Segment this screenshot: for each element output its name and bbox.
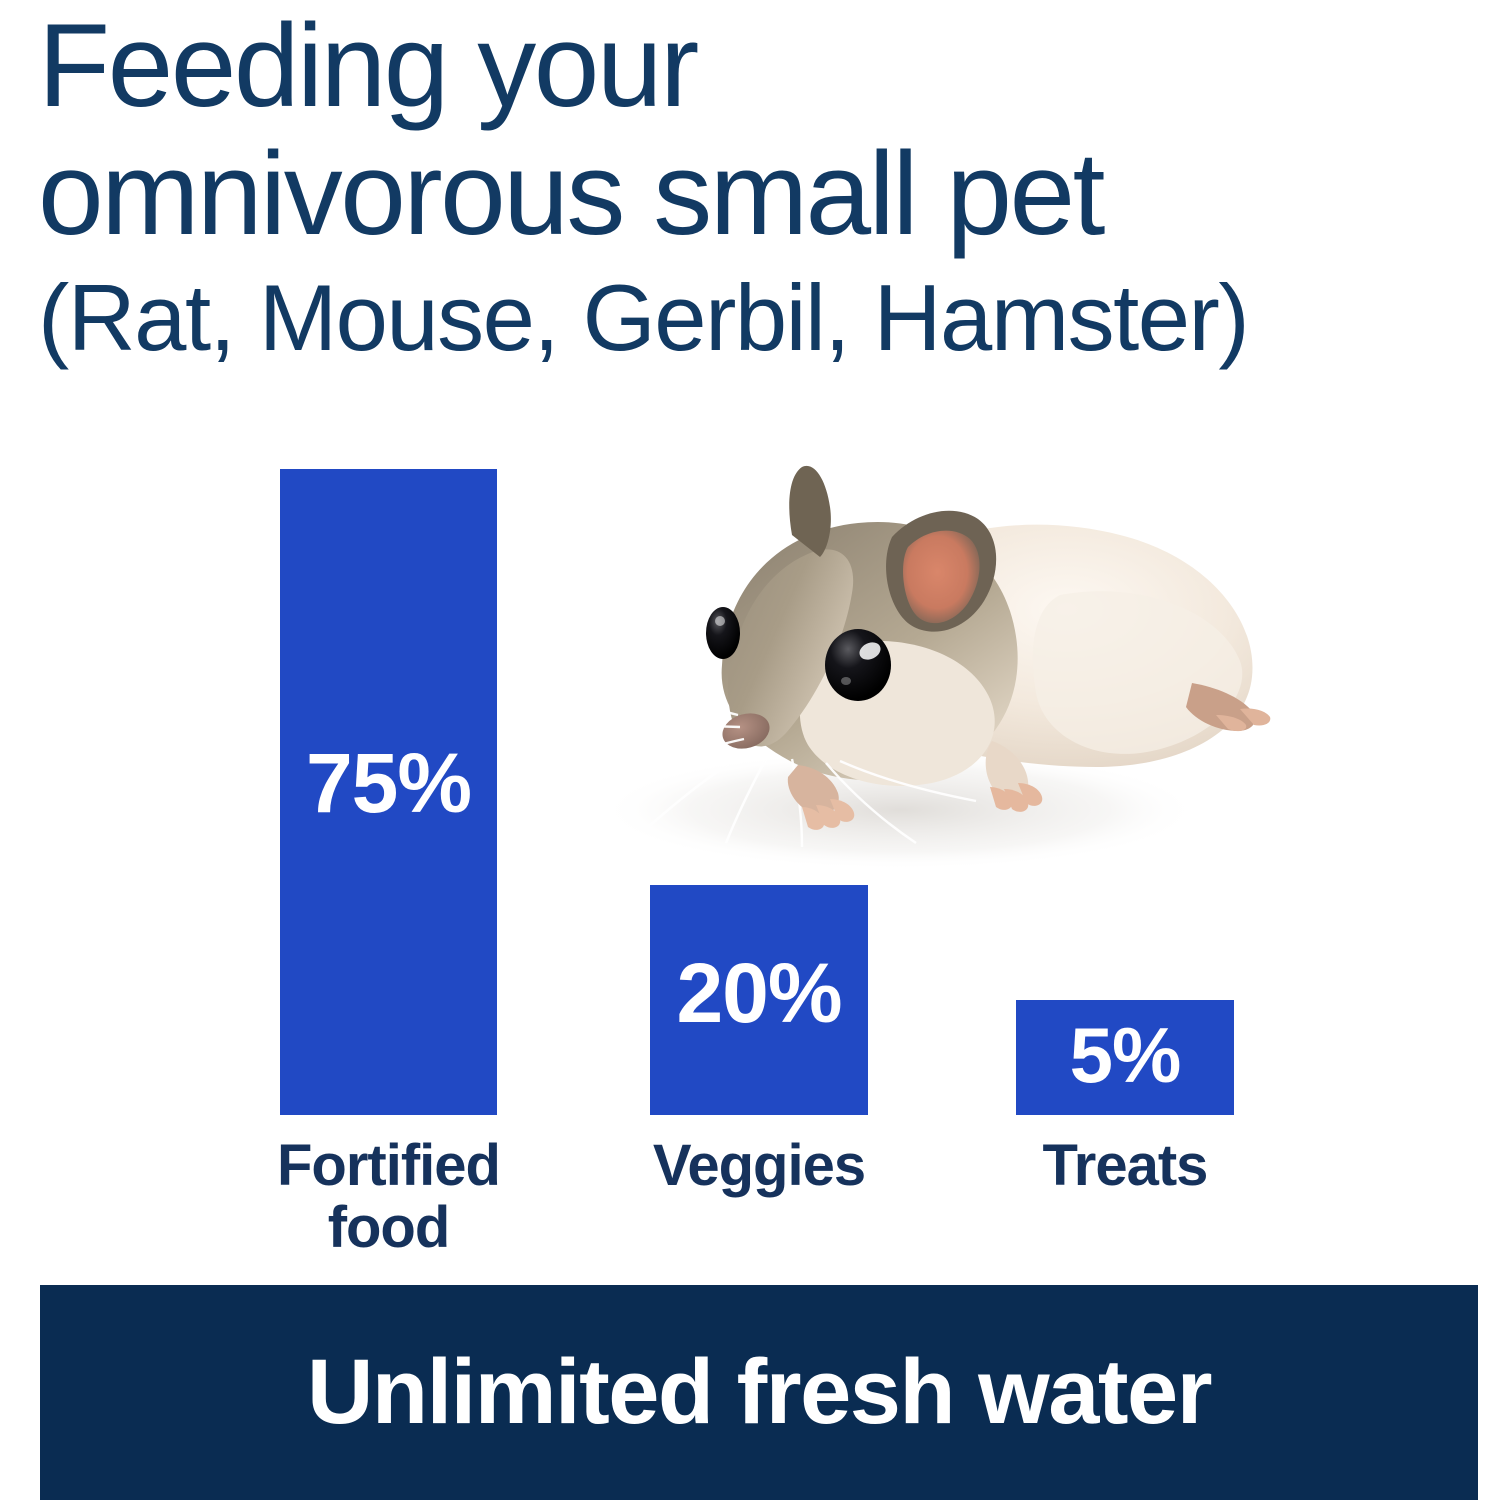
bar-label-treats-line1: Treats <box>1043 1133 1208 1198</box>
water-banner-text: Unlimited fresh water <box>307 1340 1211 1445</box>
bar-chart: 75% Fortified food 20% Veggies 5% Treats <box>0 0 1500 1280</box>
bar-label-veggies-line1: Veggies <box>653 1133 865 1198</box>
bar-treats: 5% <box>1016 1000 1234 1115</box>
bar-label-fortified-food-line2: food <box>328 1195 450 1260</box>
bar-label-treats: Treats <box>966 1135 1284 1197</box>
bar-value-treats: 5% <box>1016 1016 1234 1094</box>
bar-label-fortified-food: Fortified food <box>230 1135 547 1259</box>
water-banner: Unlimited fresh water <box>40 1285 1478 1500</box>
bar-fortified-food: 75% <box>280 469 497 1115</box>
bar-value-fortified-food: 75% <box>280 741 497 825</box>
bar-value-veggies: 20% <box>650 951 868 1035</box>
bar-label-veggies: Veggies <box>600 1135 918 1197</box>
infographic-page: Feeding your omnivorous small pet (Rat, … <box>0 0 1500 1500</box>
bar-veggies: 20% <box>650 885 868 1115</box>
bar-label-fortified-food-line1: Fortified <box>277 1133 500 1198</box>
